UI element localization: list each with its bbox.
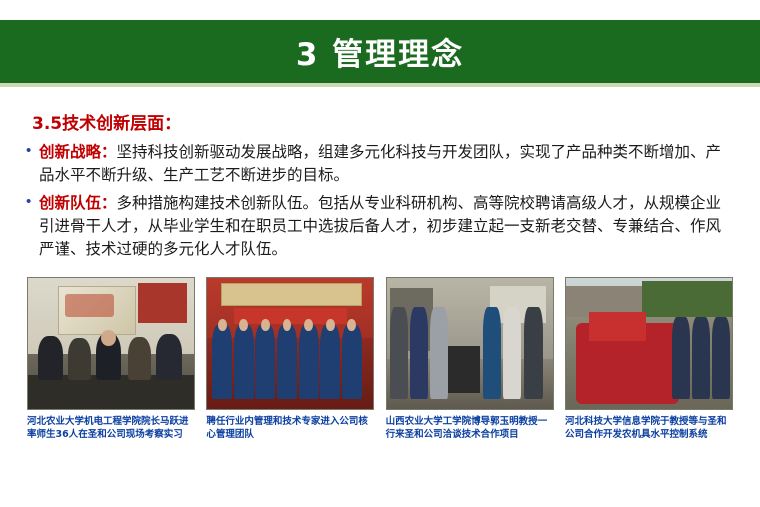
bullet-item-team: • 创新队伍：多种措施构建技术创新队伍。包括从专业科研机构、高等院校聘请高级人才… bbox=[26, 191, 732, 261]
photo-industry-managers-and-experts bbox=[206, 277, 374, 410]
bullet-lead-label: 创新队伍： bbox=[39, 194, 117, 212]
photo-caption-3: 山西农业大学工学院博导郭玉明教授一行来圣和公司洽谈技术合作项目 bbox=[386, 415, 554, 441]
bullet-body: 创新战略：坚持科技创新驱动发展战略，组建多元化科技与开发团队，实现了产品种类不断… bbox=[39, 140, 732, 187]
slide-content: 3.5技术创新层面： • 创新战略：坚持科技创新驱动发展战略，组建多元化科技与开… bbox=[0, 95, 760, 261]
bullet-marker-icon: • bbox=[26, 140, 39, 162]
photo-row: 河北农业大学机电工程学院院长马跃进率师生36人在圣和公司现场考察实习 聘任行业内… bbox=[27, 277, 733, 441]
bullet-text: 多种措施构建技术创新队伍。包括从专业科研机构、高等院校聘请高级人才，从规模企业引… bbox=[39, 194, 721, 258]
section-title: 3.5技术创新层面： bbox=[32, 109, 760, 134]
photo-cell-4: 河北科技大学信息学院于教授等与圣和公司合作开发农机具水平控制系统 bbox=[565, 277, 733, 441]
bullet-text: 坚持科技创新驱动发展战略，组建多元化科技与开发团队，实现了产品种类不断增加、产品… bbox=[39, 143, 721, 184]
bullet-lead-label: 创新战略： bbox=[39, 143, 117, 161]
photo-meeting-hebei-agricultural-university bbox=[27, 277, 195, 410]
photo-caption-1: 河北农业大学机电工程学院院长马跃进率师生36人在圣和公司现场考察实习 bbox=[27, 415, 195, 441]
slide-header-band: 3 管理理念 bbox=[0, 20, 760, 83]
photo-cell-1: 河北农业大学机电工程学院院长马跃进率师生36人在圣和公司现场考察实习 bbox=[27, 277, 195, 441]
photo-shanxi-agricultural-university-cooperation bbox=[386, 277, 554, 410]
photo-cell-2: 聘任行业内管理和技术专家进入公司核心管理团队 bbox=[206, 277, 374, 441]
photo-caption-2: 聘任行业内管理和技术专家进入公司核心管理团队 bbox=[206, 415, 374, 441]
page-title: 3 管理理念 bbox=[296, 29, 464, 74]
photo-caption-4: 河北科技大学信息学院于教授等与圣和公司合作开发农机具水平控制系统 bbox=[565, 415, 733, 441]
photo-cell-3: 山西农业大学工学院博导郭玉明教授一行来圣和公司洽谈技术合作项目 bbox=[386, 277, 554, 441]
bullet-body: 创新队伍：多种措施构建技术创新队伍。包括从专业科研机构、高等院校聘请高级人才，从… bbox=[39, 191, 732, 261]
photo-hebei-university-of-science-technology bbox=[565, 277, 733, 410]
bullet-item-strategy: • 创新战略：坚持科技创新驱动发展战略，组建多元化科技与开发团队，实现了产品种类… bbox=[26, 140, 732, 187]
bullet-marker-icon: • bbox=[26, 191, 39, 213]
slide: 3 管理理念 3.5技术创新层面： • 创新战略：坚持科技创新驱动发展战略，组建… bbox=[0, 0, 760, 507]
